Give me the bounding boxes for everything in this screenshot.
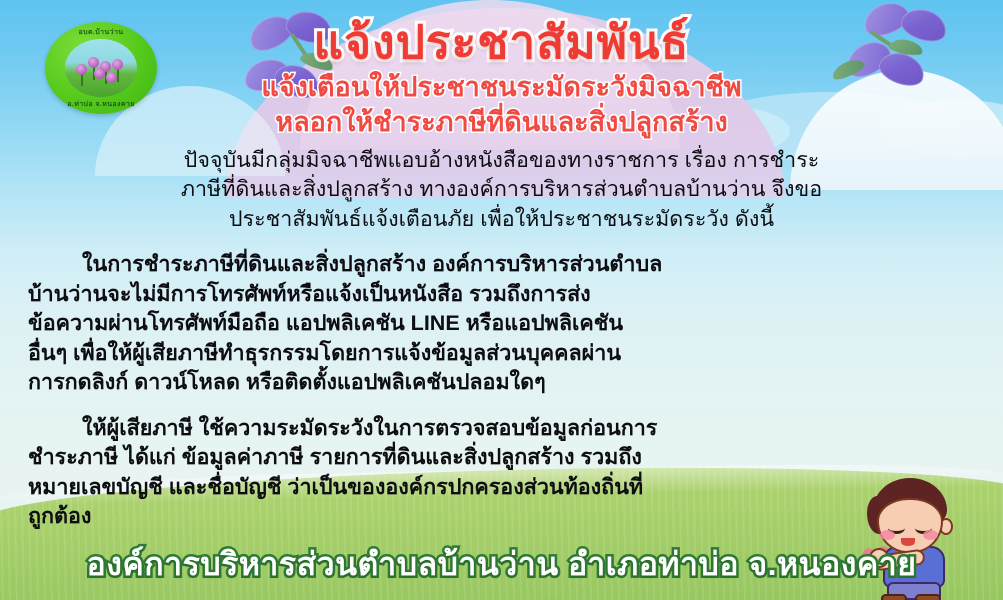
paragraph-line: อื่นๆ เพื่อให้ผู้เสียภาษีทำธุรกรรมโดยการ… bbox=[28, 339, 975, 368]
paragraph-1: ปัจจุบันมีกลุ่มมิจฉาชีพแอบอ้างหนังสือของ… bbox=[28, 146, 975, 234]
paragraph-line: ชำระภาษี ได้แก่ ข้อมูลค่าภาษี รายการที่ด… bbox=[28, 443, 975, 472]
footer-organization-name: องค์การบริหารส่วนตำบลบ้านว่าน อำเภอท่าบ่… bbox=[0, 539, 1003, 590]
paragraph-line: ประชาสัมพันธ์แจ้งเตือนภัย เพื่อให้ประชาช… bbox=[28, 205, 975, 234]
paragraph-line: ให้ผู้เสียภาษี ใช้ความระมัดระวังในการตรว… bbox=[28, 414, 975, 443]
body-text-block: ปัจจุบันมีกลุ่มมิจฉาชีพแอบอ้างหนังสือของ… bbox=[28, 146, 975, 547]
paragraph-line: หมายเลขบัญชี และชื่อบัญชี ว่าเป็นขององค์… bbox=[28, 473, 975, 502]
paragraph-line: ปัจจุบันมีกลุ่มมิจฉาชีพแอบอ้างหนังสือของ… bbox=[28, 146, 975, 175]
paragraph-line: บ้านว่านจะไม่มีการโทรศัพท์หรือแจ้งเป็นหน… bbox=[28, 280, 975, 309]
boy-shoe bbox=[915, 594, 941, 600]
poster-subtitle: แจ้งเตือนให้ประชาชนระมัดระวังมิจฉาชีพ หล… bbox=[0, 70, 1003, 139]
subtitle-line: แจ้งเตือนให้ประชาชนระมัดระวังมิจฉาชีพ bbox=[0, 70, 1003, 105]
heading-block: แจ้งประชาสัมพันธ์ แจ้งเตือนให้ประชาชนระม… bbox=[0, 18, 1003, 139]
paragraph-line: ถูกต้อง bbox=[28, 502, 975, 531]
boy-shoe bbox=[881, 594, 907, 600]
announcement-poster: อบต.บ้านว่าน อ.ท่าบ่อ จ.หนองคาย แจ้งประช… bbox=[0, 0, 1003, 600]
paragraph-2: ในการชำระภาษีที่ดินและสิ่งปลูกสร้าง องค์… bbox=[28, 250, 975, 397]
paragraph-3: ให้ผู้เสียภาษี ใช้ความระมัดระวังในการตรว… bbox=[28, 414, 975, 532]
paragraph-line: ข้อความผ่านโทรศัพท์มือถือ แอปพลิเคชัน LI… bbox=[28, 309, 975, 338]
poster-title: แจ้งประชาสัมพันธ์ bbox=[0, 18, 1003, 66]
paragraph-line: ในการชำระภาษีที่ดินและสิ่งปลูกสร้าง องค์… bbox=[28, 250, 975, 279]
paragraph-line: ภาษีที่ดินและสิ่งปลูกสร้าง ทางองค์การบริ… bbox=[28, 175, 975, 204]
subtitle-line: หลอกให้ชำระภาษีที่ดินและสิ่งปลูกสร้าง bbox=[0, 105, 1003, 140]
paragraph-line: การกดลิงก์ ดาวน์โหลด หรือติดตั้งแอปพลิเค… bbox=[28, 368, 975, 397]
